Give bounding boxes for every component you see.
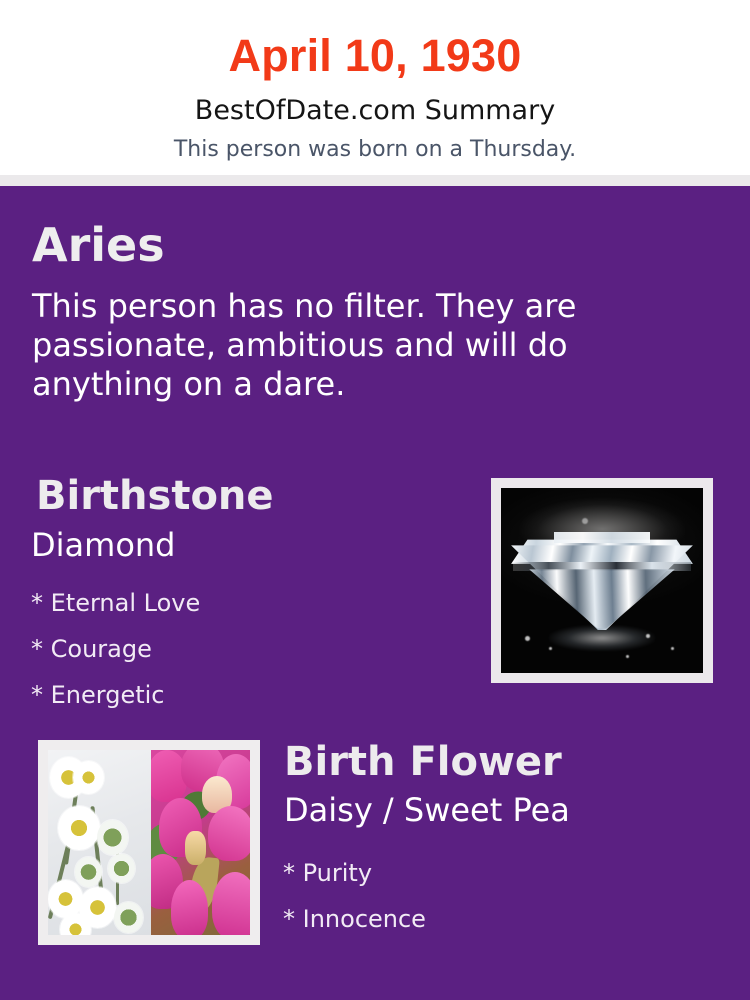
list-item: * Innocence bbox=[283, 896, 426, 942]
zodiac-description: This person has no filter. They are pass… bbox=[32, 287, 647, 404]
flower-icon bbox=[48, 750, 250, 935]
weekday-note: This person was born on a Thursday. bbox=[0, 124, 750, 161]
list-item: * Eternal Love bbox=[31, 580, 200, 626]
site-subtitle: BestOfDate.com Summary bbox=[0, 78, 750, 124]
sweet-pea-photo-half bbox=[151, 750, 250, 935]
birthday-summary-card: April 10, 1930 BestOfDate.com Summary Th… bbox=[0, 0, 750, 1000]
header-divider bbox=[0, 175, 750, 186]
birth-flower-image-frame bbox=[38, 740, 260, 945]
birthstone-traits-list: * Eternal Love * Courage * Energetic bbox=[31, 580, 200, 718]
daisy-photo-half bbox=[48, 750, 151, 935]
list-item: * Energetic bbox=[31, 672, 200, 718]
birthstone-heading: Birthstone bbox=[36, 476, 274, 516]
header: April 10, 1930 BestOfDate.com Summary Th… bbox=[0, 0, 750, 175]
zodiac-sign-title: Aries bbox=[32, 222, 165, 268]
diamond-icon bbox=[501, 488, 703, 673]
list-item: * Purity bbox=[283, 850, 426, 896]
page-title-date: April 10, 1930 bbox=[0, 0, 750, 78]
birth-flower-name: Daisy / Sweet Pea bbox=[284, 794, 570, 826]
birth-flower-heading: Birth Flower bbox=[284, 742, 562, 782]
birth-flower-traits-list: * Purity * Innocence bbox=[283, 850, 426, 942]
birthstone-name: Diamond bbox=[31, 529, 175, 561]
birthstone-image-frame bbox=[491, 478, 713, 683]
list-item: * Courage bbox=[31, 626, 200, 672]
content-panel: Aries This person has no filter. They ar… bbox=[0, 186, 750, 1000]
